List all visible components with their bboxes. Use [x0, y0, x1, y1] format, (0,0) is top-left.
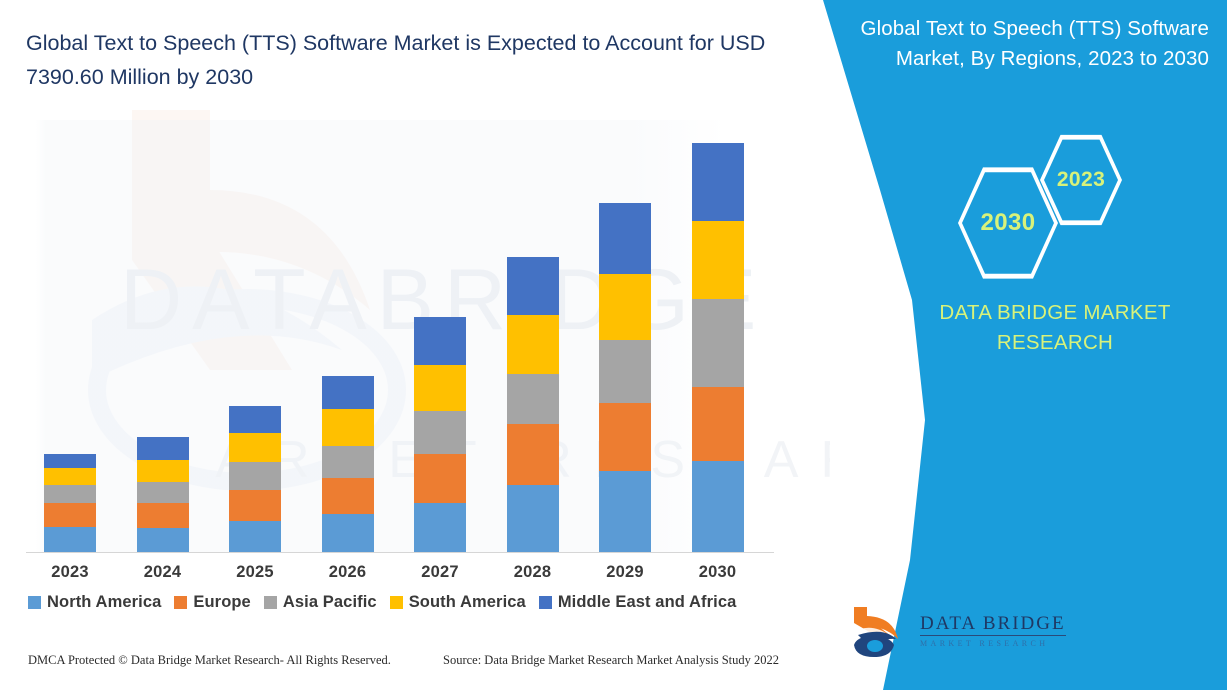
legend-item[interactable]: North America	[28, 593, 161, 612]
chart-panel: DATABRIDGE MARKET RESEARCH Global Text t…	[0, 0, 830, 690]
bar-segment	[414, 503, 466, 553]
brand-panel-title: Global Text to Speech (TTS) Software Mar…	[849, 14, 1209, 74]
bar-segment	[44, 527, 96, 553]
bar-segment	[137, 528, 189, 553]
brand-name: DATA BRIDGE MARKET RESEARCH	[890, 298, 1220, 358]
x-axis-line	[26, 552, 774, 553]
bar-segment	[507, 424, 559, 484]
bar-segment	[44, 503, 96, 527]
bar-2025	[229, 406, 281, 553]
bar-2026	[322, 376, 374, 553]
bar-segment	[692, 143, 744, 222]
bar-segment	[414, 411, 466, 454]
bar-segment	[599, 203, 651, 274]
bar-segment	[137, 437, 189, 460]
bar-segment	[137, 482, 189, 503]
bar-segment	[44, 485, 96, 503]
x-tick-2028: 2028	[503, 563, 563, 582]
legend-label: Middle East and Africa	[558, 593, 737, 612]
company-logo: DATA BRIDGE MARKET RESEARCH	[848, 600, 1098, 662]
legend-item[interactable]: Middle East and Africa	[539, 593, 737, 612]
bar-segment	[322, 376, 374, 409]
bar-segment	[507, 374, 559, 424]
legend-item[interactable]: Europe	[174, 593, 250, 612]
legend-swatch-icon	[28, 596, 41, 609]
bar-2023	[44, 454, 96, 553]
legend-label: Asia Pacific	[283, 593, 377, 612]
bar-segment	[229, 406, 281, 433]
footer: DMCA Protected © Data Bridge Market Rese…	[0, 650, 830, 690]
bar-segment	[229, 490, 281, 521]
hexagon-badge-2023-label: 2023	[1057, 168, 1105, 192]
logo-wordmark: DATA BRIDGE MARKET RESEARCH	[920, 614, 1066, 649]
bar-segment	[44, 468, 96, 485]
x-tick-2025: 2025	[225, 563, 285, 582]
source-text: Source: Data Bridge Market Research Mark…	[443, 653, 779, 668]
bar-2030	[692, 143, 744, 553]
x-tick-2024: 2024	[133, 563, 193, 582]
logo-secondary-text: MARKET RESEARCH	[920, 639, 1066, 649]
bar-segment	[599, 471, 651, 553]
bar-segment	[599, 403, 651, 471]
bar-2024	[137, 437, 189, 553]
legend-label: South America	[409, 593, 526, 612]
bar-segment	[137, 503, 189, 528]
hexagon-badge-2023: 2023	[1040, 133, 1122, 227]
bar-segment	[692, 461, 744, 553]
bar-segment	[229, 521, 281, 553]
bar-segment	[692, 387, 744, 461]
x-tick-2026: 2026	[318, 563, 378, 582]
x-axis-tick-labels: 20232024202520262027202820292030	[26, 563, 774, 589]
bar-segment	[692, 299, 744, 387]
bar-segment	[229, 462, 281, 490]
copyright-text: DMCA Protected © Data Bridge Market Rese…	[28, 653, 391, 668]
bar-segment	[692, 221, 744, 298]
bar-2029	[599, 203, 651, 553]
data-bridge-logo-icon	[848, 603, 910, 659]
bar-segment	[599, 274, 651, 340]
bar-segment	[507, 315, 559, 374]
bar-series-container	[26, 120, 774, 553]
legend-swatch-icon	[539, 596, 552, 609]
hexagon-badge-2030-label: 2030	[981, 209, 1036, 237]
page-title: Global Text to Speech (TTS) Software Mar…	[26, 26, 821, 94]
bar-segment	[507, 257, 559, 315]
bar-segment	[322, 409, 374, 445]
x-tick-2023: 2023	[40, 563, 100, 582]
bar-2028	[507, 257, 559, 553]
legend-swatch-icon	[264, 596, 277, 609]
infographic-root: DATABRIDGE MARKET RESEARCH Global Text t…	[0, 0, 1227, 690]
chart-legend: North AmericaEuropeAsia PacificSouth Ame…	[28, 589, 818, 615]
x-tick-2030: 2030	[688, 563, 748, 582]
bar-segment	[414, 365, 466, 411]
logo-primary-text: DATA BRIDGE	[920, 614, 1066, 636]
x-tick-2027: 2027	[410, 563, 470, 582]
bar-segment	[322, 446, 374, 478]
bar-segment	[414, 454, 466, 503]
legend-item[interactable]: Asia Pacific	[264, 593, 377, 612]
bar-segment	[414, 317, 466, 365]
bar-2027	[414, 317, 466, 553]
bar-segment	[322, 478, 374, 514]
bar-segment	[322, 514, 374, 553]
bar-segment	[44, 454, 96, 468]
bar-segment	[599, 340, 651, 403]
legend-swatch-icon	[174, 596, 187, 609]
bar-segment	[507, 485, 559, 553]
x-tick-2029: 2029	[595, 563, 655, 582]
legend-swatch-icon	[390, 596, 403, 609]
legend-label: North America	[47, 593, 161, 612]
bar-segment	[229, 433, 281, 461]
legend-item[interactable]: South America	[390, 593, 526, 612]
bar-segment	[137, 460, 189, 483]
legend-label: Europe	[193, 593, 250, 612]
